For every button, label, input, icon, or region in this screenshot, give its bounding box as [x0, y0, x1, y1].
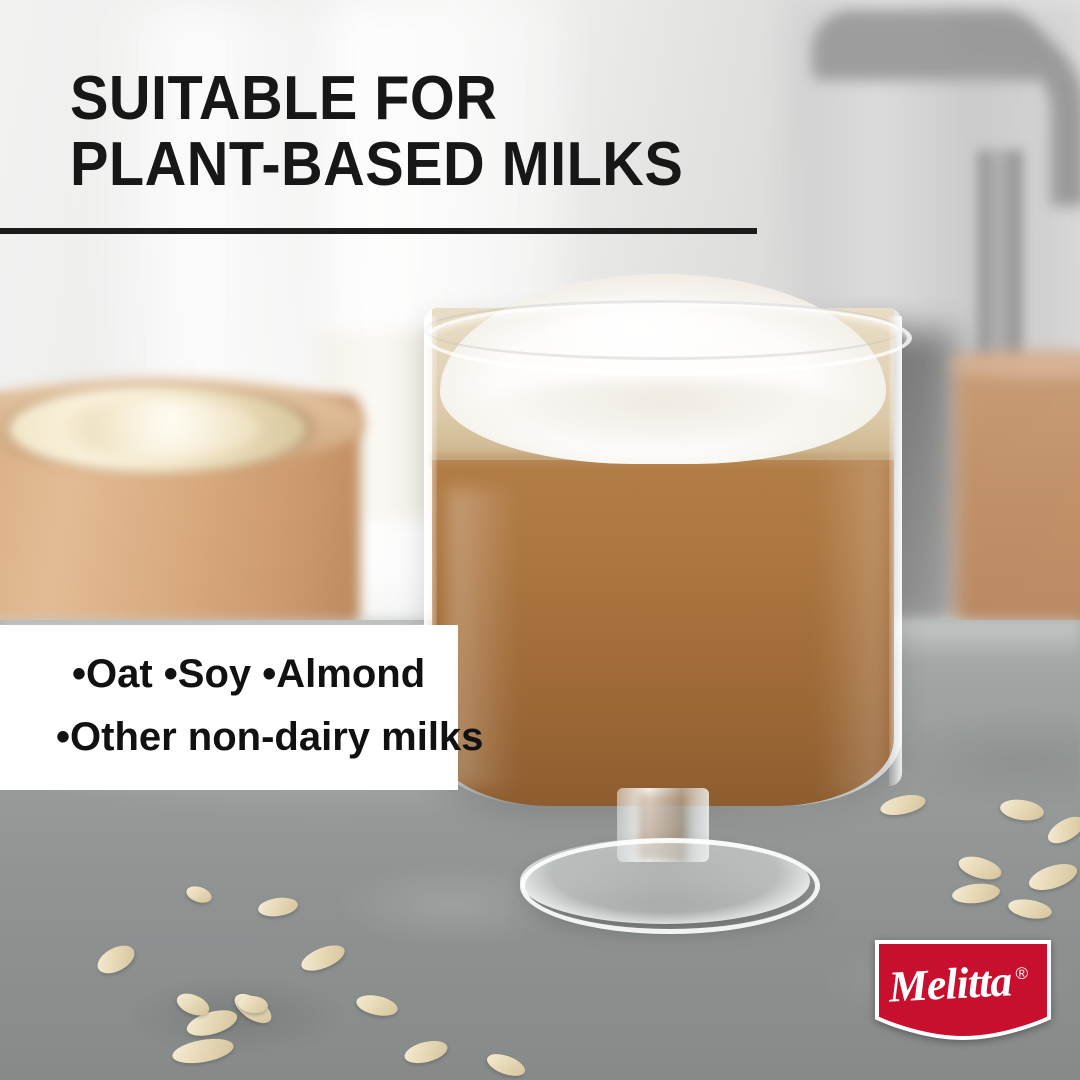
- bullet-panel: [0, 625, 458, 790]
- melitta-wordmark: Melitta: [887, 954, 1030, 1027]
- bullet-row-primary: •Oat •Soy •Almond: [72, 652, 425, 696]
- melitta-logo[interactable]: Melitta ®: [875, 940, 1051, 1044]
- latte-glass: [424, 282, 902, 842]
- glass-rim-inner: [424, 300, 902, 360]
- coffee-machine-spout: [978, 150, 1022, 380]
- glass-wall-right: [889, 316, 902, 786]
- headline: SUITABLE FOR PLANT-BASED MILKS: [70, 66, 730, 198]
- oats-in-bowl-highlight: [60, 398, 260, 458]
- foam-shading: [464, 378, 864, 452]
- headline-divider-rule: [0, 228, 757, 234]
- registered-trademark-icon: ®: [1015, 964, 1028, 984]
- second-coffee-glass: [955, 360, 1080, 640]
- glass-foot-ring: [520, 838, 820, 934]
- glass-highlight-right: [816, 458, 886, 798]
- ad-creative: SUITABLE FOR PLANT-BASED MILKS •Oat •Soy…: [0, 0, 1080, 1080]
- headline-line-1: SUITABLE FOR: [70, 66, 683, 132]
- headline-line-2: PLANT-BASED MILKS: [70, 132, 683, 198]
- bullet-row-secondary: •Other non-dairy milks: [56, 715, 483, 759]
